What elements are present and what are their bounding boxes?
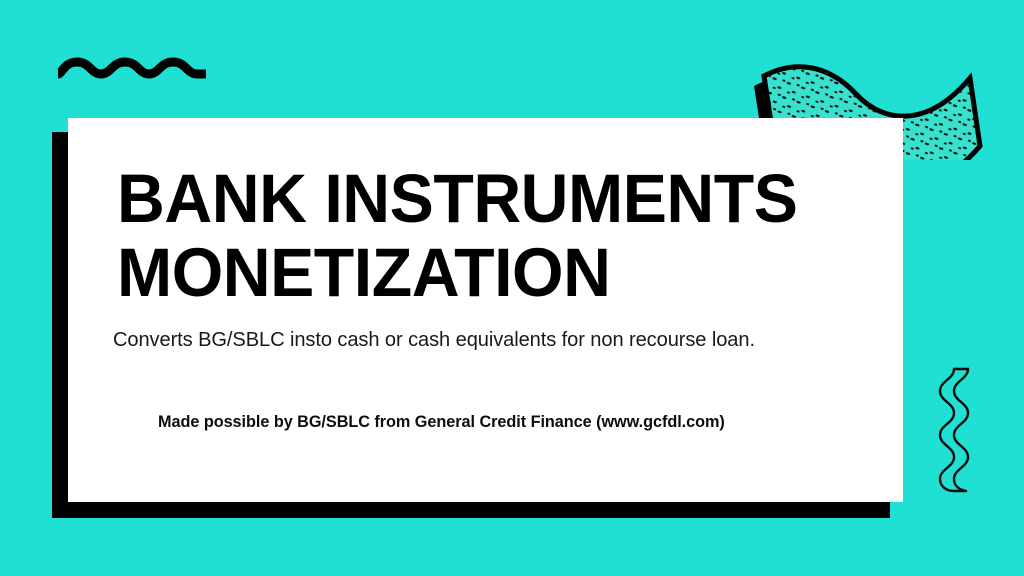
squiggle-wave-icon <box>56 50 208 86</box>
page-title: BANK INSTRUMENTS MONETIZATION <box>117 162 847 310</box>
slide-canvas: BANK INSTRUMENTS MONETIZATION Converts B… <box>0 0 1024 576</box>
vertical-squiggle-icon <box>928 365 992 495</box>
attribution-text: Made possible by BG/SBLC from General Cr… <box>158 411 848 433</box>
content-card: BANK INSTRUMENTS MONETIZATION Converts B… <box>68 118 903 502</box>
subtitle-text: Converts BG/SBLC insto cash or cash equi… <box>113 327 858 353</box>
